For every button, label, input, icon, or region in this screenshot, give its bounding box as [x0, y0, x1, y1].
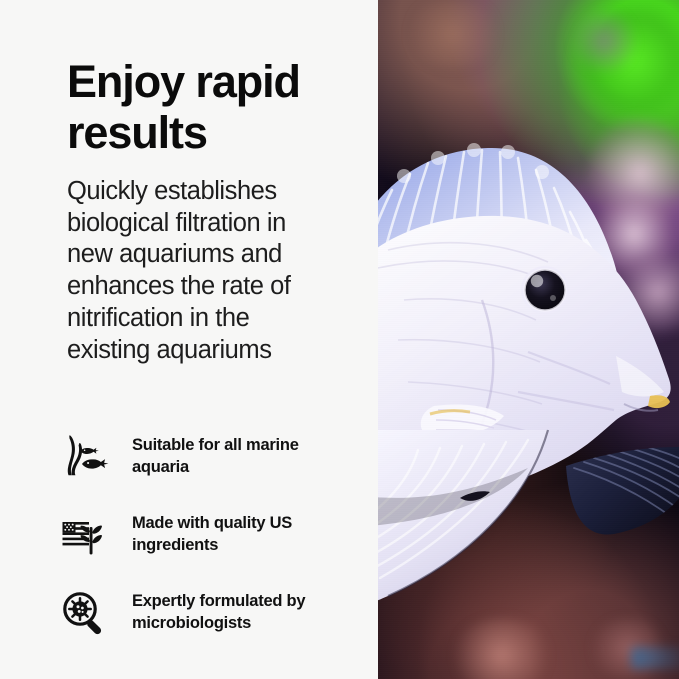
feature-item-microbiologists: Expertly formulated by microbiologists	[58, 574, 358, 652]
us-flag-plant-icon	[58, 509, 110, 561]
feature-label: Expertly formulated by microbiologists	[132, 591, 347, 635]
white-tang-fish	[378, 0, 679, 679]
dark-striped-fin	[566, 446, 679, 535]
feature-label: Suitable for all marine aquaria	[132, 435, 347, 479]
feature-label: Made with quality US ingredients	[132, 513, 347, 557]
copy-panel: Enjoy rapid results Quickly establishes …	[0, 0, 378, 679]
feature-list: Suitable for all marine aquaria	[58, 418, 358, 652]
page-title: Enjoy rapid results	[67, 57, 337, 159]
product-photo	[378, 0, 679, 679]
feature-item-marine-aquaria: Suitable for all marine aquaria	[58, 418, 358, 496]
feature-item-us-ingredients: Made with quality US ingredients	[58, 496, 358, 574]
description-text: Quickly establishes biological filtratio…	[67, 176, 317, 367]
fish-eye	[521, 266, 569, 314]
product-feature-banner: Enjoy rapid results Quickly establishes …	[0, 0, 679, 679]
seaweed-fish-icon	[58, 431, 110, 483]
magnifier-microbe-icon	[58, 587, 110, 639]
